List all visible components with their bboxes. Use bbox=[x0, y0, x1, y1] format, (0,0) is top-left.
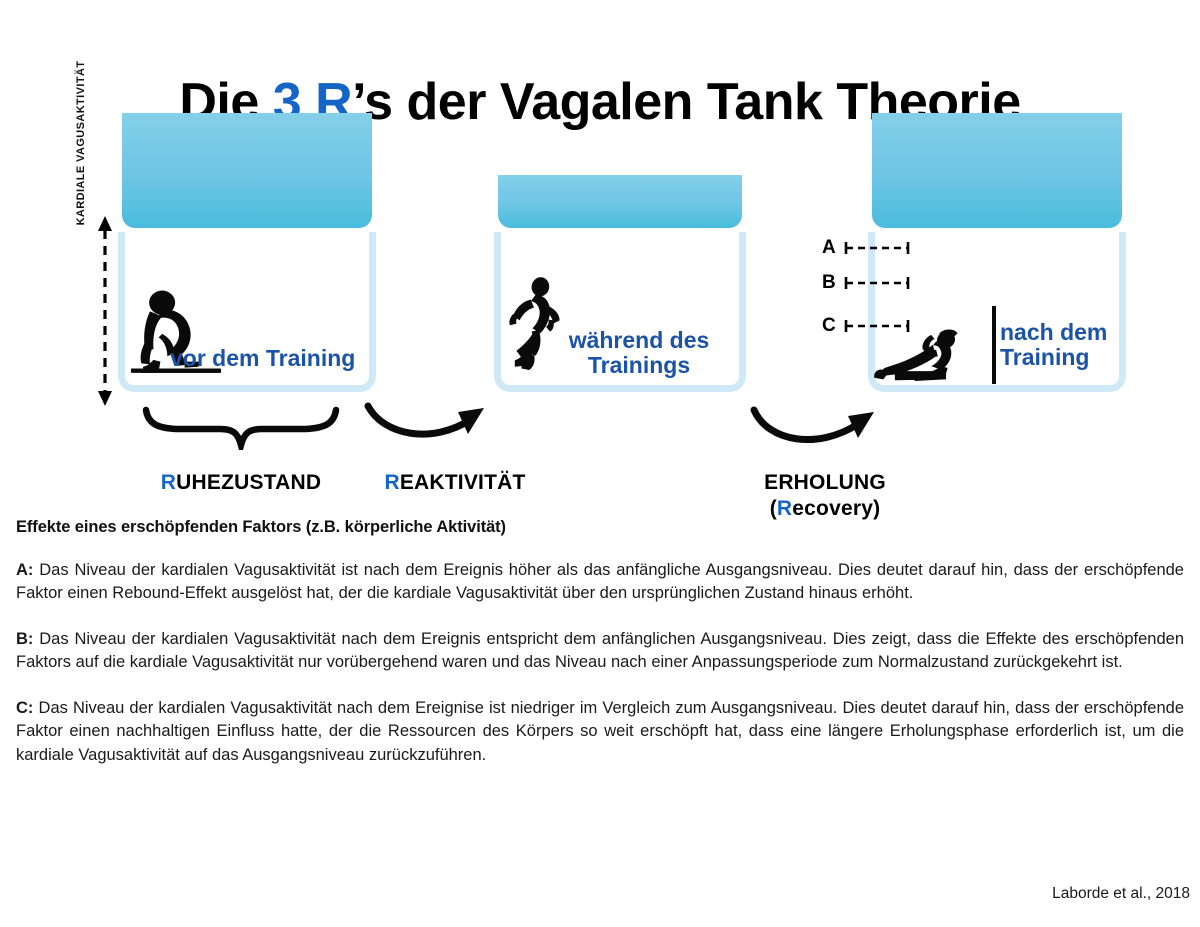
step-label-reaktivitaet: REAKTIVITÄT bbox=[330, 470, 580, 496]
reference-vertical-line bbox=[992, 306, 996, 384]
axis-label-cardiac-vagal-activity: KARDIALE VAGUSAKTIVITÄT bbox=[72, 58, 90, 228]
paragraph-a: A: Das Niveau der kardialen Vagusaktivit… bbox=[16, 559, 1184, 606]
tank-caption-text: vor dem Training bbox=[170, 345, 355, 371]
explanation-block: Effekte eines erschöpfenden Faktors (z.B… bbox=[16, 518, 1184, 789]
paragraph-text: Das Niveau der kardialen Vagusaktivität … bbox=[16, 699, 1184, 764]
vertical-axis-double-arrow bbox=[96, 216, 114, 406]
body-heading: Effekte eines erschöpfenden Faktors (z.B… bbox=[16, 518, 1184, 537]
tank-caption: während des Trainings bbox=[550, 328, 728, 378]
tank-caption: vor dem Training bbox=[170, 346, 355, 371]
paragraph-text: Das Niveau der kardialen Vagusaktivität … bbox=[16, 561, 1184, 602]
marker-c: C bbox=[822, 316, 911, 335]
paragraph-b: B: Das Niveau der kardialen Vagusaktivit… bbox=[16, 628, 1184, 675]
paragraph-label: C: bbox=[16, 699, 33, 717]
paragraph-label: B: bbox=[16, 630, 33, 648]
paragraph-text: Das Niveau der kardialen Vagusaktivität … bbox=[16, 630, 1184, 671]
marker-letter: B bbox=[822, 273, 836, 292]
tank-water-level bbox=[872, 113, 1122, 228]
step-accent-letter: R bbox=[384, 471, 399, 494]
marker-b: B bbox=[822, 273, 911, 292]
tank-water-level bbox=[498, 175, 742, 228]
tank-caption-line1: während des bbox=[550, 328, 728, 353]
marker-dashed-line bbox=[843, 318, 911, 334]
tank-water-level bbox=[122, 113, 372, 228]
brace-down-ruhezustand bbox=[142, 404, 340, 450]
tank-caption-line2: Training bbox=[1000, 345, 1107, 370]
step-sub-rest: ecovery) bbox=[792, 497, 880, 520]
marker-dashed-line bbox=[843, 240, 911, 256]
marker-letter: A bbox=[822, 238, 836, 257]
step-label-text: UHEZUSTAND bbox=[176, 471, 321, 494]
step-label-text: EAKTIVITÄT bbox=[400, 471, 526, 494]
curved-arrow-erholung bbox=[748, 402, 882, 454]
marker-dashed-line bbox=[843, 275, 911, 291]
marker-letter: C bbox=[822, 316, 836, 335]
marker-a: A bbox=[822, 238, 911, 257]
tank-caption-line2: Trainings bbox=[550, 353, 728, 378]
paragraph-label: A: bbox=[16, 561, 33, 579]
infographic-page: Die 3 R’s der Vagalen Tank Theorie KARDI… bbox=[0, 0, 1200, 927]
step-sub-open: ( bbox=[770, 497, 777, 520]
step-accent-letter: R bbox=[777, 497, 792, 520]
citation: Laborde et al., 2018 bbox=[790, 885, 1190, 903]
step-accent-letter: R bbox=[161, 471, 176, 494]
paragraph-c: C: Das Niveau der kardialen Vagusaktivit… bbox=[16, 697, 1184, 767]
step-label-erholung: ERHOLUNG (Recovery) bbox=[700, 470, 950, 523]
tank-caption: nach dem Training bbox=[1000, 320, 1107, 370]
step-label-text: ERHOLUNG bbox=[700, 470, 950, 496]
tank-caption-line1: nach dem bbox=[1000, 320, 1107, 345]
curved-arrow-reaktivitaet bbox=[362, 396, 492, 448]
